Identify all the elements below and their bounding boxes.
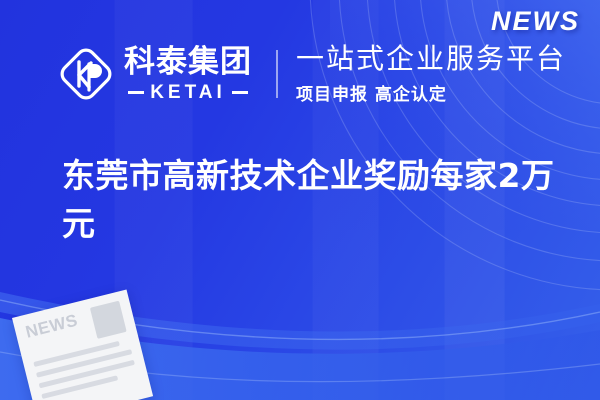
- slogan-block: 一站式企业服务平台 项目申报 高企认定: [296, 43, 566, 105]
- brand-name-en-row: KETAI: [128, 83, 248, 102]
- brand-wordmark: 科泰集团 KETAI: [124, 47, 252, 102]
- headline: 东莞市高新技术企业奖励每家2万元: [62, 152, 560, 248]
- news-banner: NEWS 科泰集团 KETAI 一站式企业服务平台: [0, 0, 600, 400]
- brand-name-cn: 科泰集团: [124, 47, 252, 78]
- header-divider: [276, 50, 278, 98]
- slogan-main: 一站式企业服务平台: [296, 43, 566, 75]
- dash-right-icon: [232, 91, 248, 94]
- dash-left-icon: [128, 91, 144, 94]
- ketai-diamond-kp-logo-icon: [58, 46, 114, 102]
- brand-logo[interactable]: 科泰集团 KETAI: [58, 46, 252, 102]
- image-placeholder-icon: [90, 301, 127, 339]
- brand-name-en: KETAI: [150, 83, 226, 102]
- newspaper-masthead: NEWS: [24, 310, 90, 356]
- slogan-sub: 项目申报 高企认定: [296, 80, 566, 105]
- banner-header: 科泰集团 KETAI 一站式企业服务平台 项目申报 高企认定: [0, 30, 600, 118]
